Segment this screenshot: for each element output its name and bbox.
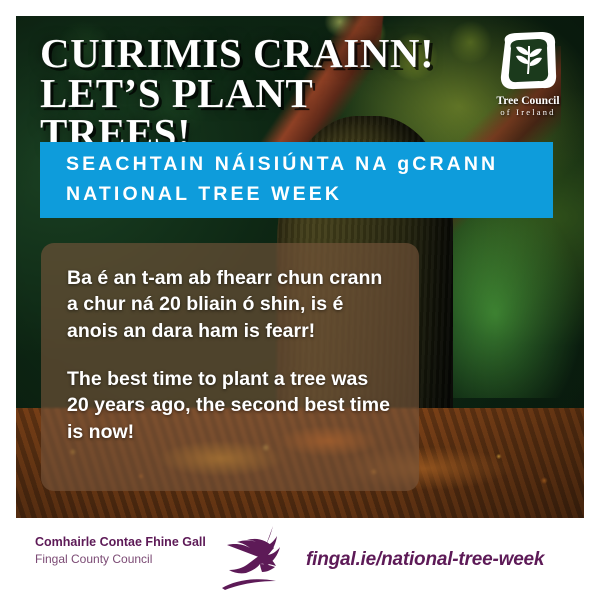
poster-footer: Comhairle Contae Fhine Gall Fingal Count… <box>0 518 600 600</box>
tree-council-name: Tree Council <box>478 95 578 107</box>
poster-headline: CUIRIMIS CRAINN! LET’S PLANT TREES! <box>40 34 460 153</box>
fingal-county-council-wordmark: Comhairle Contae Fhine Gall Fingal Count… <box>35 533 206 569</box>
banner-line-english: NATIONAL TREE WEEK <box>66 180 553 210</box>
council-name-irish: Comhairle Contae Fhine Gall <box>35 533 206 551</box>
banner-line-irish: SEACHTAIN NÁISIÚNTA NA gCRANN <box>66 150 553 180</box>
leaf-in-square-icon <box>497 30 559 92</box>
national-tree-week-banner: SEACHTAIN NÁISIÚNTA NA gCRANN NATIONAL T… <box>40 142 553 218</box>
tree-council-subtitle: of Ireland <box>478 107 578 117</box>
poster: CUIRIMIS CRAINN! LET’S PLANT TREES! Tree… <box>0 0 600 600</box>
quote-english: The best time to plant a tree was 20 yea… <box>67 366 395 445</box>
tree-council-logo: Tree Council of Ireland <box>478 30 578 117</box>
quote-irish: Ba é an t-am ab fhearr chun crann a chur… <box>67 265 395 344</box>
flying-eagle-icon <box>216 523 296 595</box>
campaign-url[interactable]: fingal.ie/national-tree-week <box>306 549 544 571</box>
council-name-english: Fingal County Council <box>35 551 206 568</box>
quote-panel: Ba é an t-am ab fhearr chun crann a chur… <box>41 243 419 491</box>
